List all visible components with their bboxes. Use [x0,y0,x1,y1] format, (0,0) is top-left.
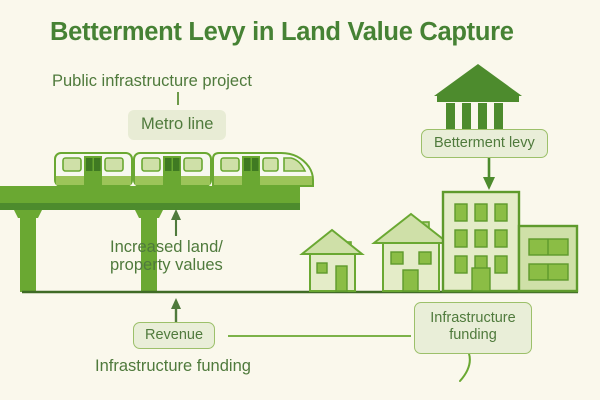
metro-train-icon [55,153,313,186]
infrastructure-funding-box[interactable]: Infrastructurefunding [414,302,532,354]
increased-values-line2: property values [110,256,223,274]
small-house-icon [302,230,362,291]
increased-values-line1: Increased land/ [110,238,223,256]
medium-house-icon [374,214,448,291]
wide-office-building-icon [519,226,577,291]
arrow-up-icon [171,209,181,236]
metro-line-pill[interactable]: Metro line [128,110,226,140]
infra-box-line2: funding [449,327,497,343]
apartment-building-icon [443,192,519,291]
arrow-down-icon [483,157,495,190]
arrow-up-icon [171,298,181,322]
page-title: Betterment Levy in Land Value Capture [50,18,514,47]
public-project-label: Public infrastructure project [52,72,252,90]
betterment-levy-pill[interactable]: Betterment levy [421,129,548,158]
infra-box-line1: Infrastructure [430,310,515,326]
increased-values-label: Increased land/property values [110,238,223,275]
infographic-canvas: Betterment Levy in Land Value Capture Pu… [0,0,600,400]
revenue-pill[interactable]: Revenue [133,322,215,349]
infrastructure-funding-label: Infrastructure funding [95,357,251,375]
